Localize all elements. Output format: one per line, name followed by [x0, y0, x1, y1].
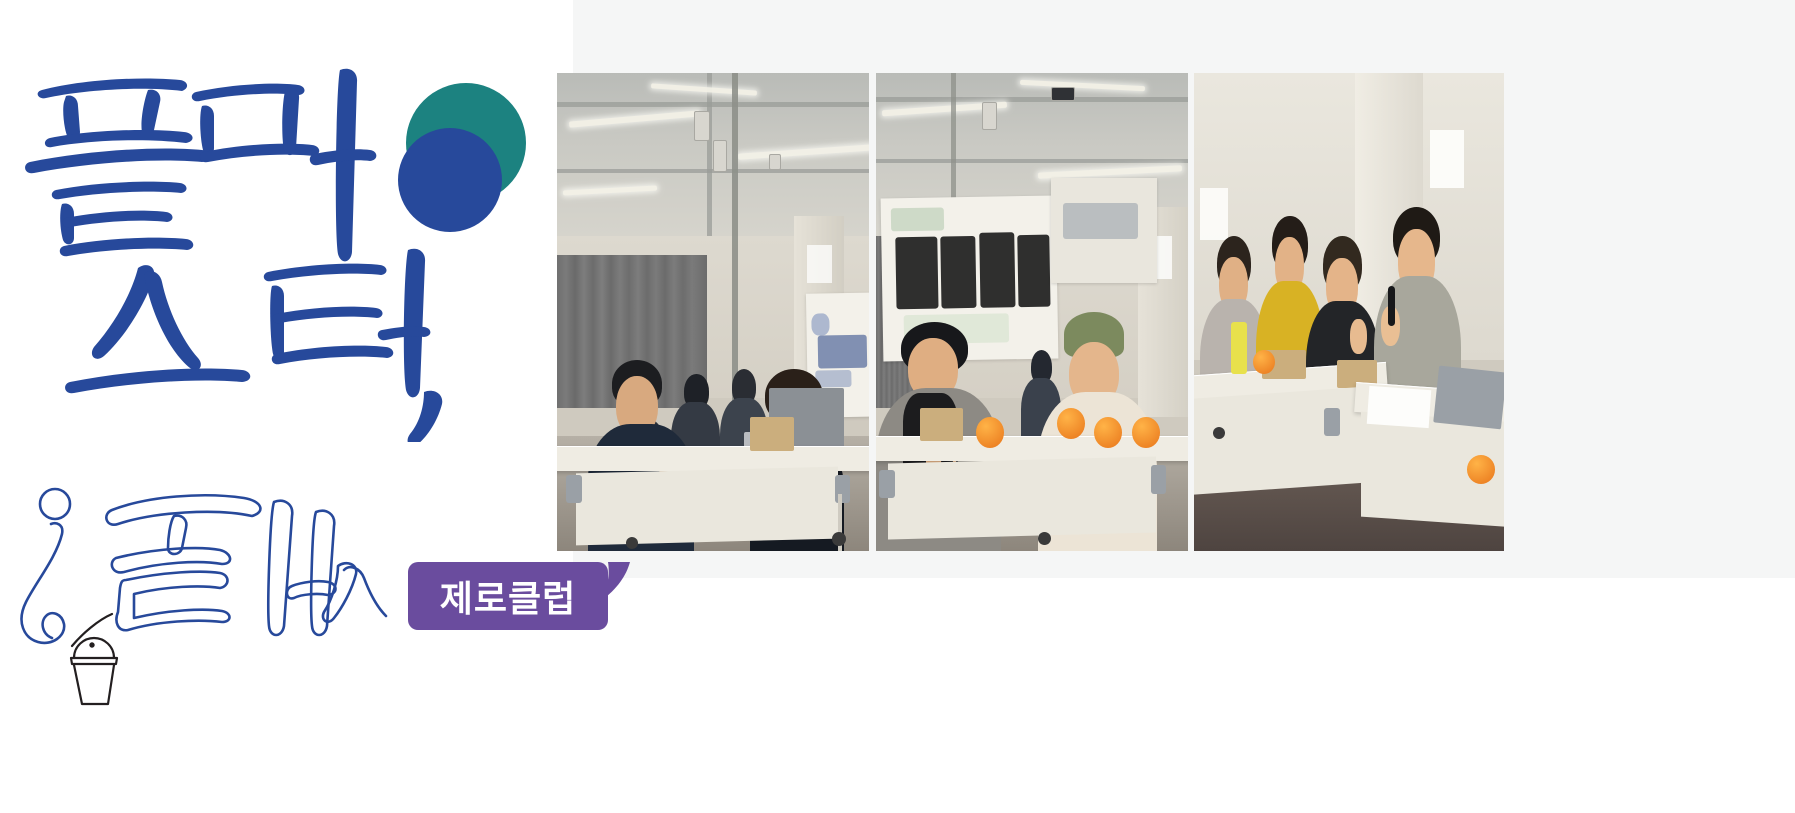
paper-sheet [1366, 386, 1431, 428]
gallery-photo-3[interactable] [1194, 73, 1504, 551]
poster-canvas: 제로클럽 [0, 0, 1795, 813]
gallery-photo-1[interactable] [557, 73, 869, 551]
badge-label: 제로클럽 [408, 562, 608, 630]
gallery-photo-2[interactable] [876, 73, 1188, 551]
ceiling-beam [876, 97, 1188, 102]
banner-graphic [811, 313, 829, 336]
table-clip [879, 470, 895, 499]
bottle [1231, 322, 1247, 375]
ceiling-duct [769, 154, 781, 170]
orange-fruit [1057, 408, 1085, 439]
orange-fruit [1132, 417, 1160, 448]
banner-text [1018, 235, 1051, 307]
cardboard-box [920, 408, 964, 441]
photo-2-scene [876, 73, 1188, 551]
banner-text [941, 236, 977, 308]
secondary-banner [1051, 178, 1157, 283]
cardboard-box [750, 417, 794, 450]
table-caster [1213, 427, 1225, 439]
ceiling-beam [557, 102, 869, 107]
table-panel [1194, 387, 1361, 495]
banner-graphic [1063, 203, 1137, 239]
banner-graphic [891, 207, 944, 231]
wall-notice [1430, 130, 1464, 187]
table-clip [566, 475, 582, 504]
orange-fruit [1253, 350, 1275, 374]
table-clip [1151, 465, 1167, 494]
table-caster [832, 532, 846, 546]
photo-1-scene [557, 73, 869, 551]
ceiling-duct [982, 102, 997, 130]
banner-text [895, 237, 938, 309]
orange-fruit [976, 417, 1004, 448]
zero-club-badge[interactable]: 제로클럽 [408, 562, 628, 634]
ceiling-beam [707, 73, 712, 245]
table-panel [576, 466, 838, 545]
photo-3-scene [1194, 73, 1504, 551]
ceiling-duct [694, 111, 710, 141]
table-clip [1324, 408, 1340, 437]
wall-notice [807, 245, 832, 283]
table-caster [626, 537, 638, 549]
structural-pole [732, 73, 738, 417]
banner-text [818, 335, 867, 368]
laptop [1433, 366, 1504, 430]
ceiling-projector [1051, 87, 1075, 101]
orange-fruit [1467, 455, 1495, 484]
table-panel [888, 457, 1156, 540]
ceiling-duct [713, 140, 727, 172]
takeaway-cup-icon [60, 608, 160, 708]
banner-text [979, 232, 1015, 307]
wall-notice [1200, 188, 1228, 241]
main-title [20, 52, 450, 442]
ceiling-beam [876, 159, 1188, 163]
